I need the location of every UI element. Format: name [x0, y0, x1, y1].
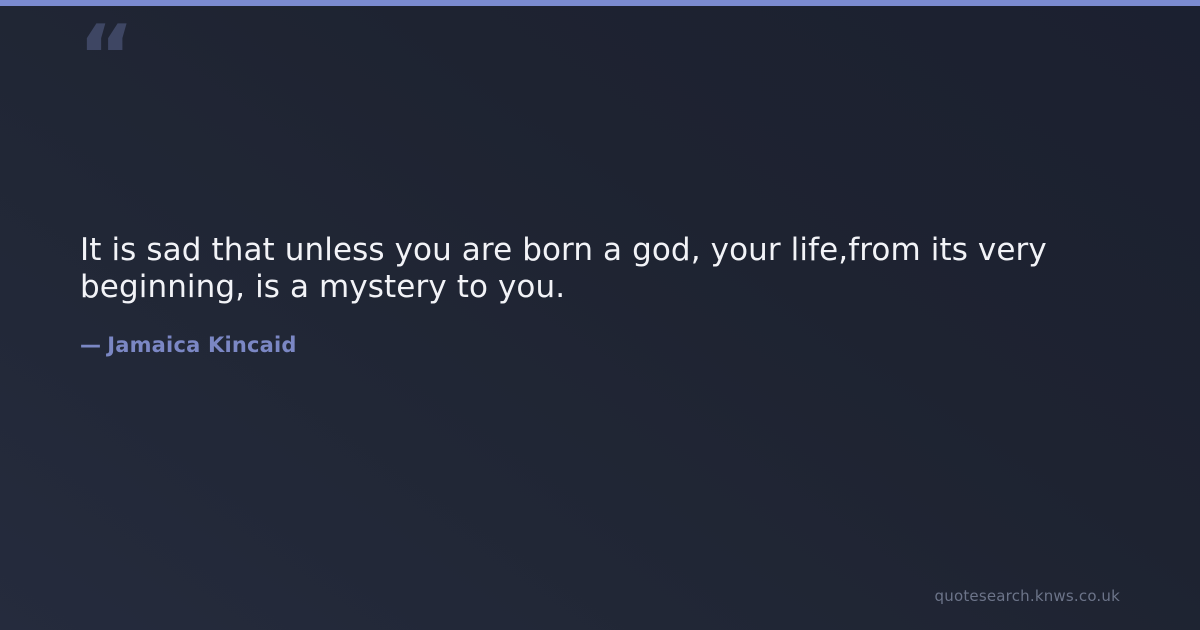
attribution-author-name: Jamaica Kincaid: [107, 333, 296, 357]
footer-watermark: quotesearch.knws.co.uk: [935, 587, 1120, 605]
quote-content: It is sad that unless you are born a god…: [80, 232, 1120, 358]
attribution-dash: —: [80, 333, 101, 357]
opening-quotation-mark-icon: “: [78, 14, 133, 100]
quote-text: It is sad that unless you are born a god…: [80, 232, 1090, 306]
quote-card: “ It is sad that unless you are born a g…: [0, 0, 1200, 630]
top-accent-bar: [0, 0, 1200, 6]
quote-attribution: —Jamaica Kincaid: [80, 332, 1120, 358]
